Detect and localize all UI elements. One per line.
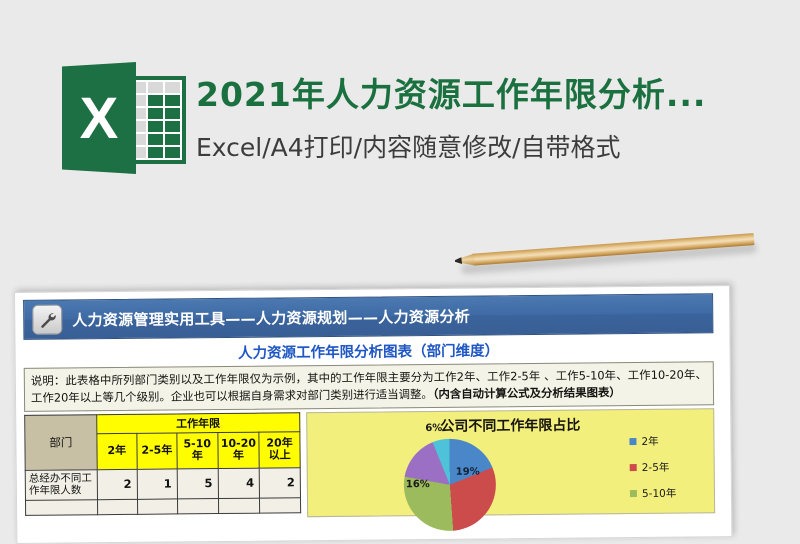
- table-cell-value-2: 5: [177, 468, 218, 499]
- note-text: 说明：此表格中所列部门类别以及工作年限仅为示例，其中的工作年限主要分为工作2年、…: [31, 366, 707, 407]
- table-cell-value-3: 4: [218, 468, 260, 499]
- table-header-year-0: 2年: [97, 433, 137, 469]
- pencil-graphite-tip: [455, 257, 462, 264]
- wrench-icon: [32, 305, 62, 335]
- promo-banner: X 2021年人力资源工作年限分析... Excel/A4打印/内容随意修改/自…: [0, 0, 800, 215]
- excel-logo: X: [62, 62, 190, 174]
- legend-item-0[interactable]: 2年: [629, 433, 703, 449]
- pie-label-20plus: 6%: [425, 423, 442, 434]
- table-header-year-3: 10-20年: [218, 432, 260, 468]
- pie-chart-panel[interactable]: 公司不同工作年限占比 6% 19% 16% 2年 2-5年 5-10年: [306, 408, 715, 517]
- legend-swatch-1: [630, 464, 637, 471]
- pencil-decoration: [454, 230, 755, 274]
- table-header-year-4: 20年以上: [259, 431, 300, 467]
- legend-label-0: 2年: [641, 433, 658, 448]
- table-row-label: 总经办不同工作年限人数: [25, 469, 97, 500]
- document-preview-card: 人力资源管理实用工具——人力资源规划——人力资源分析 人力资源工作年限分析图表（…: [14, 285, 732, 544]
- note-box: 说明：此表格中所列部门类别以及工作年限仅为示例，其中的工作年限主要分为工作2年、…: [24, 361, 714, 411]
- pie-label-2years: 19%: [456, 466, 480, 477]
- table-cell-value-0: 2: [97, 469, 137, 500]
- table-header-year-1: 2-5年: [137, 433, 178, 469]
- excel-logo-grid: [128, 80, 182, 160]
- chart-legend: 2年 2-5年 5-10年: [629, 433, 704, 512]
- table-header-dept: 部门: [25, 414, 97, 470]
- legend-item-2[interactable]: 5-10年: [630, 485, 704, 501]
- table-cell-value-1: 1: [137, 469, 178, 500]
- excel-logo-letter: X: [62, 62, 136, 174]
- promo-subtitle: Excel/A4打印/内容随意修改/自带格式: [196, 128, 621, 164]
- legend-swatch-0: [629, 438, 636, 445]
- legend-swatch-2: [630, 490, 637, 497]
- legend-label-2: 5-10年: [642, 485, 676, 500]
- table-cell-value-4: 2: [259, 467, 300, 498]
- ribbon-title: 人力资源管理实用工具——人力资源规划——人力资源分析: [72, 305, 470, 330]
- table-header-group: 工作年限: [96, 412, 299, 433]
- legend-item-1[interactable]: 2-5年: [630, 459, 704, 475]
- note-bold-tail: （内含自动计算公式及分析结果图表）: [433, 386, 621, 402]
- table-row-partial[interactable]: [25, 498, 300, 516]
- pie-label-10to20: 16%: [406, 479, 430, 490]
- years-of-service-table: 部门 工作年限 2年 2-5年 5-10年 10-20年 20年以上 总经办不同…: [24, 412, 301, 516]
- table-row[interactable]: 总经办不同工作年限人数 2 1 5 4 2: [25, 467, 300, 500]
- pie-chart[interactable]: 6% 19% 16%: [403, 438, 496, 531]
- legend-label-1: 2-5年: [642, 459, 670, 474]
- document-ribbon-header: 人力资源管理实用工具——人力资源规划——人力资源分析: [23, 293, 713, 340]
- promo-title: 2021年人力资源工作年限分析...: [196, 68, 706, 116]
- table-header-year-2: 5-10年: [177, 432, 218, 468]
